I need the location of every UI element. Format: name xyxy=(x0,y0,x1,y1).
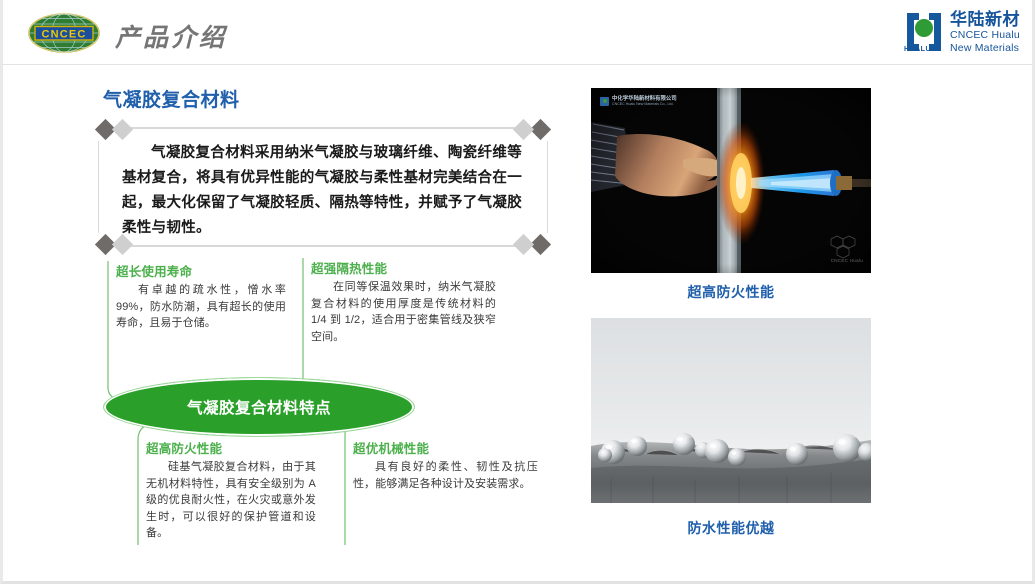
svg-text:CNCEC: CNCEC xyxy=(41,28,86,40)
watermark-logo-icon xyxy=(600,97,609,106)
photo-watermark: 中化学华陆新材料有限公司 CNCEC Hualu New Materials C… xyxy=(600,96,677,106)
feature-fire-resistance: 超高防火性能 硅基气凝胶复合材料，由于其无机材料特性，具有安全级别为 A 级的优… xyxy=(146,438,316,542)
feature-title: 超强隔热性能 xyxy=(311,258,496,277)
feature-body: 硅基气凝胶复合材料，由于其无机材料特性，具有安全级别为 A 级的优良耐火性，在火… xyxy=(146,459,316,542)
feature-title: 超高防火性能 xyxy=(146,438,316,457)
cncec-logo-icon: CNCEC xyxy=(28,13,100,53)
fire-photo-caption: 超高防火性能 xyxy=(591,282,871,302)
hualu-logo: HUALU 华陆新材 CNCEC Hualu New Materials xyxy=(904,10,1020,54)
hualu-mark-icon: HUALU xyxy=(904,11,944,53)
feature-thermal-insulation: 超强隔热性能 在同等保温效果时，纳米气凝胶复合材料的使用厚度是传统材料的 1/4… xyxy=(311,258,496,345)
hualu-sub-label: HUALU xyxy=(904,46,931,53)
water-repellency-photo xyxy=(591,318,871,503)
intro-paragraph: 气凝胶复合材料采用纳米气凝胶与玻璃纤维、陶瓷纤维等基材复合，将具有优异性能的气凝… xyxy=(122,141,522,241)
feature-long-lifespan: 超长使用寿命 有卓越的疏水性，憎水率99%，防水防潮，具有超长的使用寿命，且易于… xyxy=(116,261,286,332)
watermark-en-label: CNCEC Hualu New Materials Co., Ltd. xyxy=(612,102,677,106)
hualu-cn-label: 华陆新材 xyxy=(950,11,1020,28)
quote-box-top-rule xyxy=(112,127,534,129)
hualu-logo-text: 华陆新材 CNCEC Hualu New Materials xyxy=(950,11,1020,53)
slide: CNCEC 产品介绍 HUALU 华陆新材 CNCEC Hualu New Ma… xyxy=(0,0,1035,584)
fire-resistance-photo: 中化学华陆新材料有限公司 CNCEC Hualu New Materials C… xyxy=(591,88,871,273)
feature-body: 有卓越的疏水性，憎水率99%，防水防潮，具有超长的使用寿命，且易于仓储。 xyxy=(116,282,286,332)
feature-title: 超优机械性能 xyxy=(353,438,538,457)
slide-header: CNCEC 产品介绍 HUALU 华陆新材 CNCEC Hualu New Ma… xyxy=(3,0,1035,65)
features-diagram: 气凝胶复合材料特点 超长使用寿命 有卓越的疏水性，憎水率99%，防水防潮，具有超… xyxy=(98,255,568,555)
intro-quote-box: 气凝胶复合材料采用纳米气凝胶与玻璃纤维、陶瓷纤维等基材复合，将具有优异性能的气凝… xyxy=(98,127,548,247)
feature-mechanical-performance: 超优机械性能 具有良好的柔性、韧性及抗压性，能够满足各种设计及安装需求。 xyxy=(353,438,538,492)
diagram-center-label: 气凝胶复合材料特点 xyxy=(187,396,331,418)
section-title: 气凝胶复合材料 xyxy=(103,85,240,112)
diamond-ornament-icon xyxy=(112,119,133,140)
diamond-ornament-icon xyxy=(513,119,534,140)
quote-box-bottom-rule xyxy=(112,245,534,247)
water-photo-caption: 防水性能优越 xyxy=(591,518,871,538)
page-title: 产品介绍 xyxy=(115,18,227,54)
feature-body: 具有良好的柔性、韧性及抗压性，能够满足各种设计及安装需求。 xyxy=(353,459,538,492)
feature-title: 超长使用寿命 xyxy=(116,261,286,280)
quote-box-right-rule xyxy=(547,141,548,233)
header-divider xyxy=(3,64,1035,65)
hualu-en-line1: CNCEC Hualu xyxy=(950,30,1020,41)
feature-body: 在同等保温效果时，纳米气凝胶复合材料的使用厚度是传统材料的 1/4 到 1/2，… xyxy=(311,279,496,345)
watermark-text: 中化学华陆新材料有限公司 CNCEC Hualu New Materials C… xyxy=(612,96,677,106)
photo-corner-watermark: CNCEC Hualu xyxy=(831,258,863,263)
diagram-center-node: 气凝胶复合材料特点 xyxy=(103,377,415,437)
quote-box-left-rule xyxy=(98,141,99,233)
hualu-en-line2: New Materials xyxy=(950,43,1020,54)
